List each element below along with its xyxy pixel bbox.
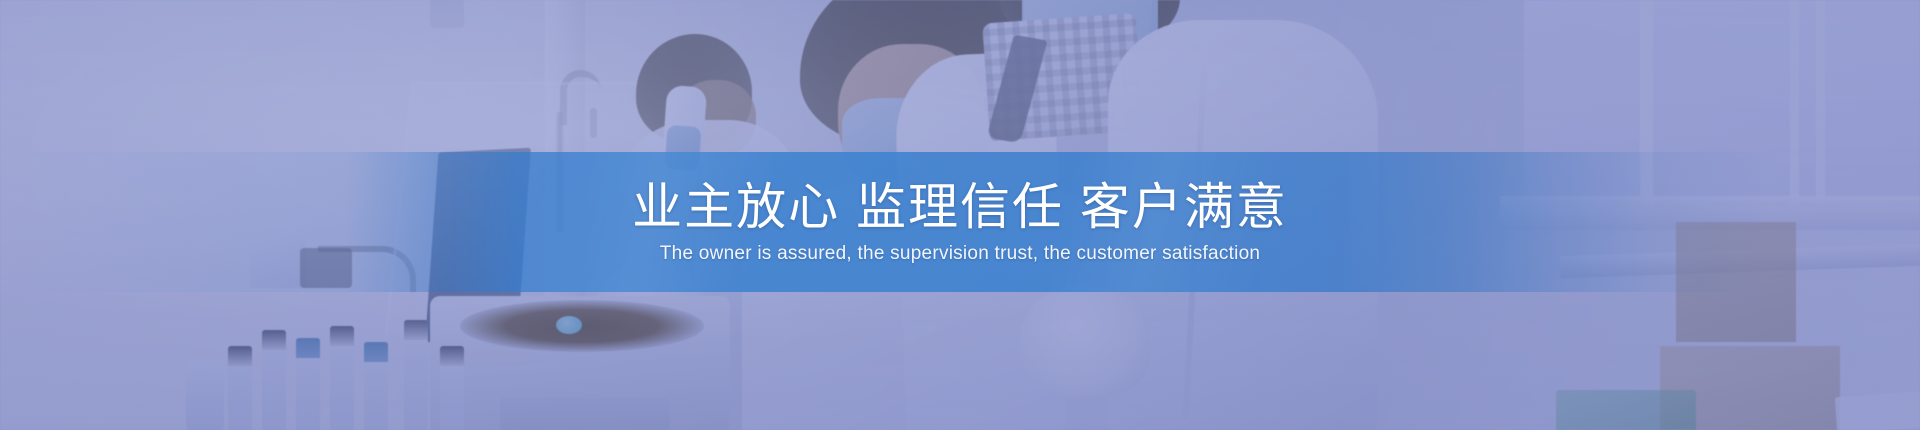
hero-banner: 业主放心 监理信任 客户满意 The owner is assured, the… (0, 0, 1920, 430)
banner-text-block: 业主放心 监理信任 客户满意 The owner is assured, the… (0, 152, 1920, 292)
banner-subheadline: The owner is assured, the supervision tr… (660, 243, 1260, 265)
banner-headline: 业主放心 监理信任 客户满意 (632, 180, 1288, 234)
